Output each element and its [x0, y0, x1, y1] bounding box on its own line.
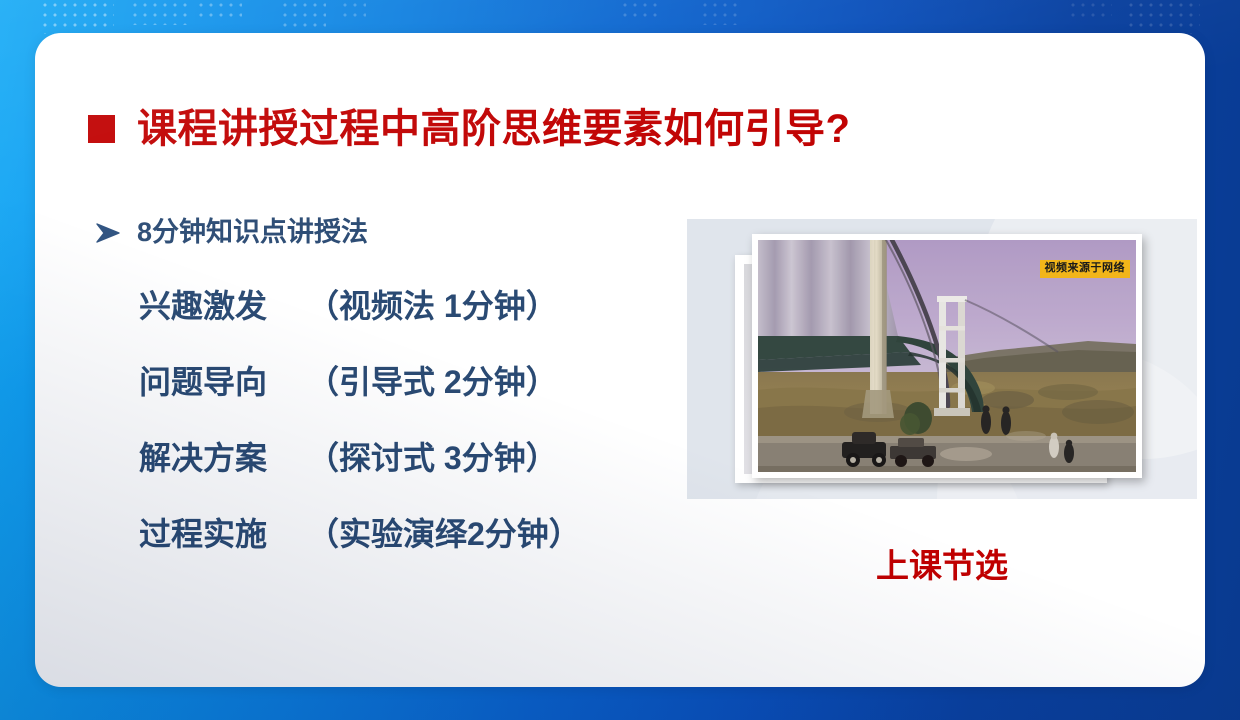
video-source-badge: 视频来源于网络 — [1040, 260, 1131, 278]
dot-pattern-icon — [196, 0, 242, 22]
step-name: 解决方案 — [139, 442, 307, 474]
list-item: 兴趣激发 （视频法 1分钟） — [139, 290, 685, 322]
dot-pattern-icon — [40, 0, 114, 34]
subheading-row: 8分钟知识点讲授法 — [95, 219, 685, 246]
media-caption: 上课节选 — [687, 549, 1197, 582]
step-detail: （视频法 1分钟） — [307, 290, 558, 322]
dot-pattern-icon — [280, 0, 326, 30]
step-name: 兴趣激发 — [139, 290, 307, 322]
dot-pattern-icon — [340, 0, 366, 20]
square-bullet-icon — [88, 115, 115, 143]
step-detail: （探讨式 3分钟） — [307, 442, 558, 474]
page-title-text: 课程讲授过程中高阶思维要素如何引导? — [137, 109, 850, 149]
dot-pattern-icon — [1126, 0, 1200, 34]
video-thumbnail[interactable]: 视频来源于网络 — [758, 240, 1136, 472]
dot-pattern-icon — [700, 0, 740, 25]
step-name: 过程实施 — [139, 518, 307, 550]
subheading-text: 8分钟知识点讲授法 — [137, 219, 368, 246]
dot-pattern-icon — [1068, 0, 1112, 22]
list-item: 解决方案 （探讨式 3分钟） — [139, 442, 685, 474]
arrow-bullet-icon — [95, 222, 121, 244]
list-item: 问题导向 （引导式 2分钟） — [139, 366, 685, 398]
step-name: 问题导向 — [139, 366, 307, 398]
step-detail: （引导式 2分钟） — [307, 366, 558, 398]
teaching-method-list: 8分钟知识点讲授法 兴趣激发 （视频法 1分钟） 问题导向 （引导式 2分钟） … — [95, 219, 685, 550]
step-list: 兴趣激发 （视频法 1分钟） 问题导向 （引导式 2分钟） 解决方案 （探讨式 … — [95, 290, 685, 550]
page-title: 课程讲授过程中高阶思维要素如何引导? — [88, 109, 850, 149]
dot-pattern-icon — [620, 0, 660, 20]
photo-frame-front[interactable]: 视频来源于网络 — [752, 234, 1142, 478]
slide-background: 课程讲授过程中高阶思维要素如何引导? 8分钟知识点讲授法 兴趣激发 （视频法 1… — [0, 0, 1240, 720]
media-panel: 视频来源于网络 — [687, 219, 1197, 499]
list-item: 过程实施 （实验演绎2分钟） — [139, 518, 685, 550]
slide-content-card: 课程讲授过程中高阶思维要素如何引导? 8分钟知识点讲授法 兴趣激发 （视频法 1… — [35, 33, 1205, 687]
dot-pattern-icon — [130, 0, 190, 25]
step-detail: （实验演绎2分钟） — [307, 518, 581, 550]
